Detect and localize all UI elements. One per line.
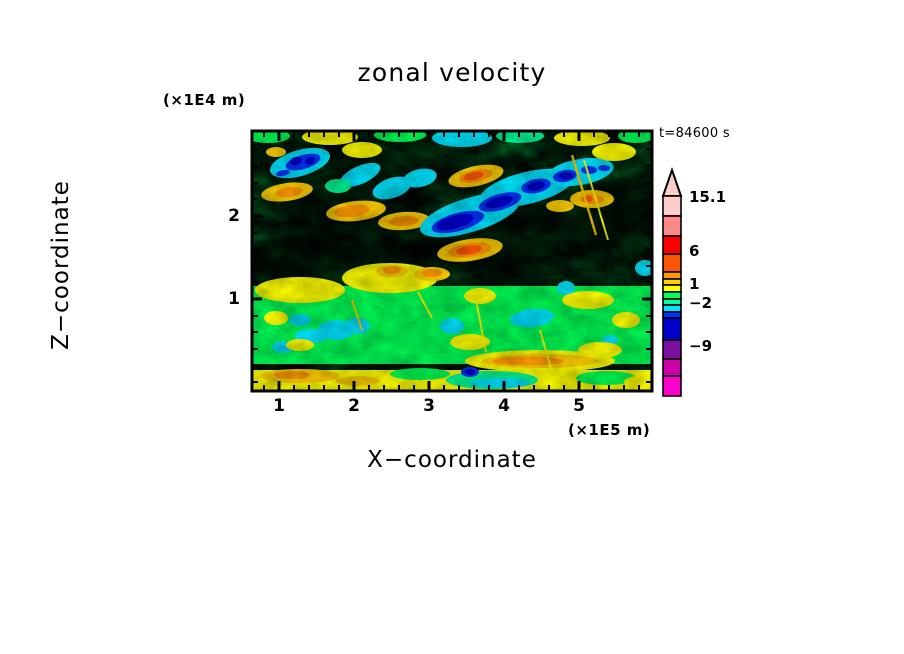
x-tick-label-4: 4	[494, 396, 514, 416]
colorbar-label-15-1: 15.1	[689, 188, 726, 206]
x-tick-label-1: 1	[269, 396, 289, 416]
field-fine-detail	[252, 131, 652, 391]
x-tick-label-3: 3	[419, 396, 439, 416]
contour-field	[246, 128, 656, 391]
x-tick-label-2: 2	[344, 396, 364, 416]
colorbar-label-minus-2: −2	[689, 294, 712, 312]
colorbar-label-6: 6	[689, 242, 699, 260]
colorbar	[663, 170, 681, 396]
colorbar-arrow-cap	[663, 170, 681, 196]
y-tick-label-2: 2	[224, 206, 244, 226]
contour-plot-svg	[0, 0, 904, 654]
colorbar-label-minus-9: −9	[689, 337, 712, 355]
colorbar-label-1: 1	[689, 275, 699, 293]
figure-canvas: zonal velocity (×1E4 m) (×1E5 m) t=84600…	[0, 0, 904, 654]
x-tick-label-5: 5	[569, 396, 589, 416]
y-tick-label-1: 1	[224, 289, 244, 309]
